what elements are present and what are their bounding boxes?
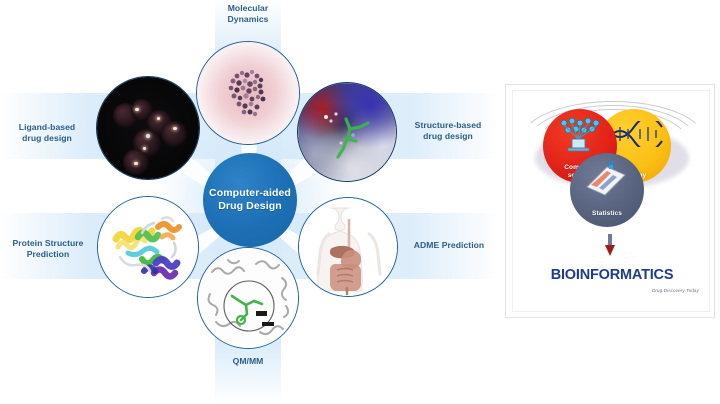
qm-region-diagram [198, 248, 299, 349]
bioinformatics-title: BIOINFORMATICS [513, 267, 711, 283]
node-protein-structure-prediction[interactable] [97, 196, 199, 298]
label-line-2: Prediction [2, 249, 94, 260]
bioinformatics-inset[interactable]: Biology [505, 84, 715, 318]
protein-ribbon-artwork [98, 197, 198, 297]
label-line-1: Protein Structure [2, 238, 94, 249]
label-line-1: Structure-based [402, 120, 494, 131]
node-structure-based-drug-design[interactable] [297, 82, 397, 182]
label-line-1: Molecular [203, 3, 293, 14]
label-line-2: drug design [4, 133, 90, 144]
bioinformatics-inner-frame: Biology [512, 90, 710, 312]
rainbow-ribbon-cartoon [98, 197, 199, 298]
label-ligand-based-drug-design: Ligand-based drug design [4, 122, 90, 144]
sbdd-ligand-overlay [298, 83, 397, 182]
human-torso-icon [299, 198, 398, 297]
hub-label-line-1: Computer-aided [209, 187, 291, 200]
node-adme-prediction[interactable] [298, 197, 398, 297]
down-arrow-icon [605, 234, 615, 256]
label-line-2: Dynamics [203, 14, 293, 25]
hub-label: Computer-aided Drug Design [209, 187, 291, 213]
cadd-diagram: Ligand-based drug design [0, 0, 500, 404]
label-structure-based-drug-design: Structure-based drug design [402, 120, 494, 142]
qm-mm-artwork [198, 248, 298, 348]
figure-canvas: Ligand-based drug design [0, 0, 720, 404]
node-qm-mm[interactable] [197, 247, 299, 349]
adme-gi-tract-artwork [299, 198, 397, 296]
label-protein-structure-prediction: Protein Structure Prediction [2, 238, 94, 260]
node-molecular-dynamics[interactable] [196, 41, 300, 145]
hub-label-line-2: Drug Design [209, 200, 291, 213]
label-line-1: ADME Prediction [401, 240, 497, 251]
statistics-chart-icon [583, 161, 629, 197]
venn-label-statistics: Statistics [592, 210, 622, 228]
md-protein-cluster [197, 42, 300, 145]
label-molecular-dynamics: Molecular Dynamics [203, 3, 293, 25]
label-line-1: QM/MM [208, 356, 288, 367]
node-ligand-based-drug-design[interactable] [96, 76, 200, 180]
label-line-2: drug design [402, 131, 494, 142]
molecular-dynamics-artwork [197, 42, 299, 144]
venn-circle-statistics[interactable]: Statistics [570, 153, 644, 227]
hub-computer-aided-drug-design[interactable]: Computer-aided Drug Design [203, 153, 297, 247]
label-qm-mm: QM/MM [208, 356, 288, 367]
label-line-1: Ligand-based [4, 122, 90, 133]
bioinformatics-credit: Drug Discovery Today [652, 288, 699, 293]
label-adme-prediction: ADME Prediction [401, 240, 497, 251]
computer-network-icon [558, 117, 602, 155]
ligand-docking-artwork [97, 77, 199, 179]
